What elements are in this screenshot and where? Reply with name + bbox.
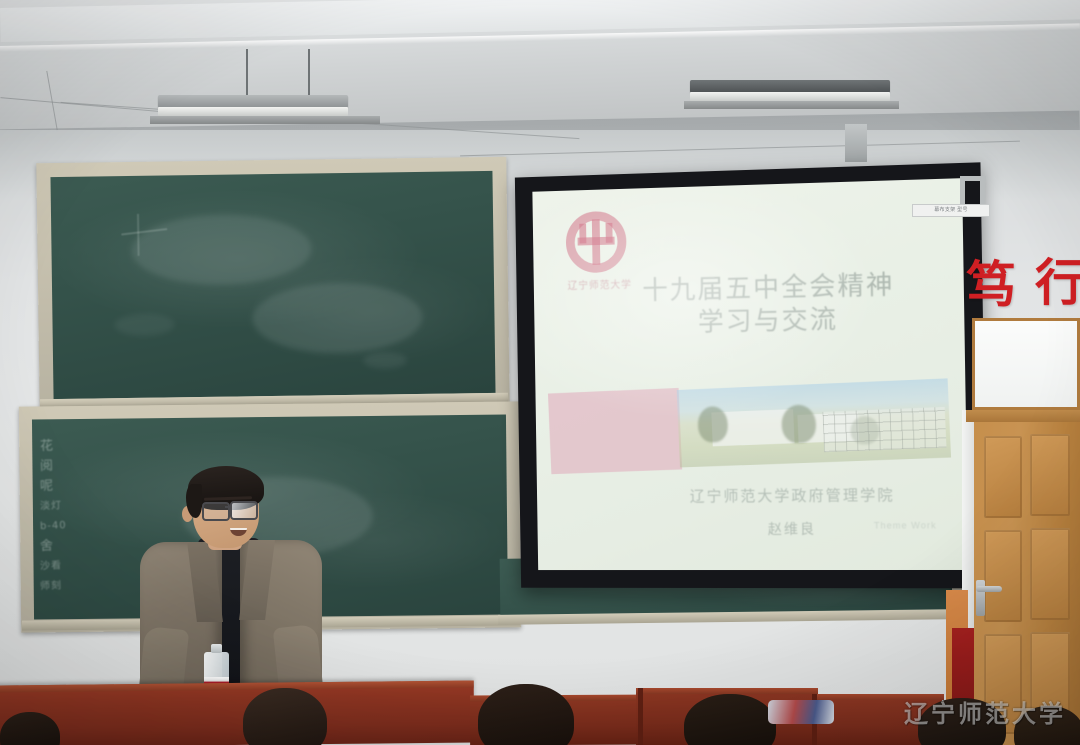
speaker-glasses-left-lens bbox=[202, 502, 230, 521]
slide-pink-block bbox=[548, 388, 682, 474]
slide-organization: 辽宁师范大学政府管理学院 bbox=[537, 484, 943, 508]
lamp-tube bbox=[158, 107, 348, 116]
door-transom-window bbox=[972, 318, 1080, 410]
door-header-trim bbox=[966, 410, 1080, 422]
slide-corner-mark: Theme Work bbox=[874, 520, 937, 530]
wall-banner-char-1: 笃 bbox=[966, 245, 1016, 317]
chalkboard-surface-upper-left bbox=[50, 171, 495, 399]
desk-divider-1 bbox=[638, 688, 643, 745]
lamp-wire-left-a bbox=[246, 49, 248, 97]
wall-conduit-box bbox=[845, 124, 867, 162]
chalkboard-chalk-notes: 花阅呢淡灯 b-40舍沙看 师刻 bbox=[40, 436, 102, 626]
lamp-tube bbox=[690, 92, 890, 101]
lamp-mount-bar bbox=[150, 116, 380, 124]
projection-screen-surface: 辽宁师范大学 十九届五中全会精神 学习与交流 辽宁师范大学政府管理学院 赵维良 … bbox=[532, 178, 968, 570]
bottle-cap bbox=[211, 644, 222, 653]
bracket-label: 幕布支架 型号 bbox=[912, 204, 990, 217]
wooden-door[interactable] bbox=[962, 318, 1080, 745]
audience-head-1 bbox=[243, 688, 327, 745]
lamp-wire-left-b bbox=[308, 49, 310, 101]
door-handle-lever[interactable] bbox=[976, 586, 1002, 592]
audience-bag-colorful bbox=[768, 700, 834, 724]
wooden-podium bbox=[0, 680, 474, 745]
speaker bbox=[120, 468, 338, 708]
slide-campus-photo bbox=[677, 378, 951, 467]
wall-banner-char-2: 行 bbox=[1035, 243, 1080, 315]
audience-head-2 bbox=[478, 684, 574, 745]
projection-screen: 辽宁师范大学 十九届五中全会精神 学习与交流 辽宁师范大学政府管理学院 赵维良 … bbox=[515, 162, 987, 588]
lamp-mount-bar bbox=[684, 101, 899, 109]
photo-watermark: 辽宁师范大学 bbox=[904, 694, 1066, 729]
slide-image-band bbox=[534, 376, 967, 475]
ceiling-fluorescent-lamp-right bbox=[690, 80, 890, 110]
speaker-hair-side bbox=[186, 484, 202, 518]
university-emblem-icon bbox=[566, 211, 627, 274]
classroom-scene: 花阅呢淡灯 b-40舍沙看 师刻 辽宁师范大学 十九届五中全会精神 学习与交流 bbox=[0, 0, 1080, 745]
speaker-glasses-right-lens bbox=[230, 501, 258, 520]
slide-title: 十九届五中全会精神 学习与交流 bbox=[601, 268, 937, 341]
ceiling-fluorescent-lamp-left bbox=[158, 95, 348, 125]
